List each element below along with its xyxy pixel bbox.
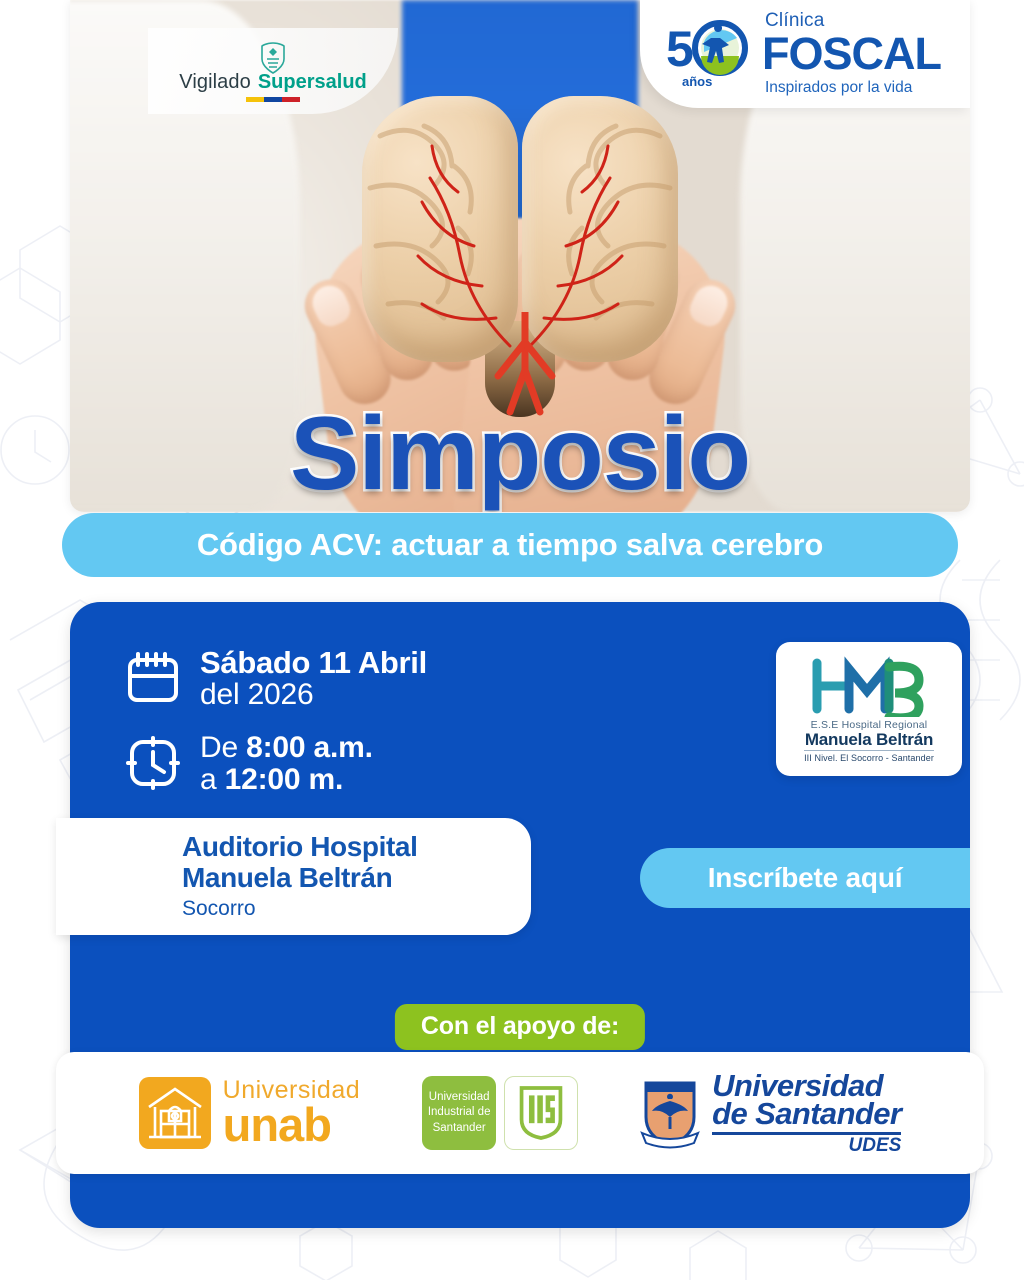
colombia-flag-bar (246, 97, 300, 102)
time-end: 12:00 m. (225, 763, 343, 796)
venue-name-line-2: Manuela Beltrán (182, 863, 511, 894)
foscal-logo: 5 años Clínica FOSCAL Inspirados por la … (640, 0, 970, 108)
udes-crest-icon (640, 1077, 700, 1149)
sponsor-udes: Universidad de Santander UDES (640, 1072, 901, 1155)
sponsors-band: Universidad unab Universidad Industrial … (56, 1052, 984, 1174)
sponsor-unab: Universidad unab (139, 1077, 361, 1149)
uis-name-box: Universidad Industrial de Santander (422, 1076, 496, 1150)
time-line-2: a 12:00 m. (200, 764, 373, 796)
uis-line-3: Santander (428, 1121, 491, 1136)
foscal-tagline: Inspirados por la vida (765, 80, 941, 96)
hmb-monogram-icon (805, 655, 933, 717)
supersalud-word: Supersalud (258, 71, 367, 94)
event-details-card: Sábado 11 Abril del 2026 De 8:00 a.m. a … (70, 602, 970, 1228)
clock-icon (126, 736, 180, 790)
time-prefix-1: De (200, 731, 246, 764)
foscal-clinica-label: Clínica (765, 11, 941, 30)
hero-banner: Vigilado Supersalud 5 años Clínica FOSC (70, 0, 970, 512)
venue-city: Socorro (182, 897, 511, 921)
uis-line-2: Industrial de (428, 1105, 491, 1120)
venue-block: Auditorio Hospital Manuela Beltrán Socor… (56, 818, 531, 935)
support-label: Con el apoyo de: (395, 1004, 645, 1050)
sponsor-uis: Universidad Industrial de Santander (422, 1076, 578, 1150)
colombia-coat-of-arms-icon (256, 41, 290, 75)
time-start: 8:00 a.m. (246, 731, 373, 764)
uis-monogram-wrap (504, 1076, 578, 1150)
unab-line-2: unab (223, 1103, 361, 1147)
brain-model-icon (362, 96, 678, 368)
uis-line-1: Universidad (428, 1090, 491, 1105)
date-line-2: del 2026 (200, 679, 427, 711)
date-row: Sábado 11 Abril del 2026 (126, 646, 427, 712)
hospital-line-1: E.S.E Hospital Regional (811, 719, 928, 731)
hospital-logo: E.S.E Hospital Regional Manuela Beltrán … (776, 642, 962, 776)
subtitle-banner: Código ACV: actuar a tiempo salva cerebr… (62, 513, 958, 577)
uis-monogram-icon (516, 1084, 566, 1142)
venue-name-line-1: Auditorio Hospital (182, 832, 511, 863)
poster-root: Vigilado Supersalud 5 años Clínica FOSC (0, 0, 1024, 1280)
hospital-line-3: III Nivel. El Socorro - Santander (804, 750, 934, 763)
page-title: Simposio (70, 402, 970, 506)
foscal-name: FOSCAL (762, 31, 941, 76)
foscal-50-anniversary-icon: 5 años (666, 16, 752, 90)
time-prefix-2: a (200, 763, 225, 796)
vigilado-word: Vigilado (179, 71, 251, 94)
svg-text:años: años (682, 74, 712, 89)
calendar-icon (126, 650, 180, 704)
udes-line-3: UDES (712, 1137, 901, 1154)
date-line-1: Sábado 11 Abril (200, 646, 427, 679)
time-row: De 8:00 a.m. a 12:00 m. (126, 732, 427, 797)
hospital-line-2: Manuela Beltrán (805, 731, 933, 749)
udes-line-2: de Santander (712, 1100, 901, 1129)
unab-building-icon (139, 1077, 211, 1149)
svg-text:5: 5 (666, 21, 694, 77)
date-time-block: Sábado 11 Abril del 2026 De 8:00 a.m. a … (126, 646, 427, 797)
register-button[interactable]: Inscríbete aquí (640, 848, 970, 908)
time-line-1: De 8:00 a.m. (200, 732, 373, 764)
